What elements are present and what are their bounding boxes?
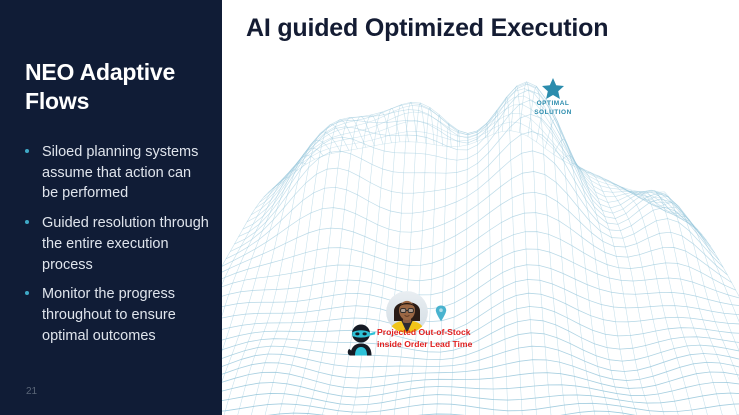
optimal-label-line1: OPTIMAL (518, 100, 588, 109)
sidebar-panel: NEO Adaptive Flows Siloed planning syste… (0, 0, 222, 415)
optimal-solution-marker: OPTIMAL SOLUTION (518, 78, 588, 118)
presentation-slide: NEO Adaptive Flows Siloed planning syste… (0, 0, 739, 415)
bullet-dot-icon (25, 220, 29, 224)
ninja-bot-icon (346, 322, 376, 356)
list-item: Siloed planning systems assume that acti… (18, 142, 210, 204)
list-item: Monitor the progress throughout to ensur… (18, 284, 210, 346)
slide-content-area: AI guided Optimized Execution OPTIMAL SO… (222, 0, 739, 415)
bullet-dot-icon (25, 291, 29, 295)
list-item-text: Monitor the progress throughout to ensur… (42, 286, 176, 343)
list-item: Guided resolution through the entire exe… (18, 213, 210, 275)
page-number: 21 (26, 386, 37, 397)
optimal-label-line2: SOLUTION (518, 109, 588, 118)
sidebar-bullet-list: Siloed planning systems assume that acti… (18, 142, 210, 356)
alert-line2: inside Order Lead Time (377, 338, 472, 350)
list-item-text: Siloed planning systems assume that acti… (42, 144, 198, 201)
page-title: AI guided Optimized Execution (246, 14, 608, 43)
list-item-text: Guided resolution through the entire exe… (42, 215, 209, 272)
optimal-solution-label: OPTIMAL SOLUTION (518, 100, 588, 118)
map-pin-icon (435, 305, 447, 322)
sidebar-heading: NEO Adaptive Flows (25, 58, 205, 117)
bullet-dot-icon (25, 149, 29, 153)
status-badge: Projected Out-of-Stock inside Order Lead… (377, 326, 472, 350)
alert-line1: Projected Out-of-Stock (377, 326, 472, 338)
star-icon (542, 78, 564, 99)
wireframe-terrain-mesh-icon (222, 40, 739, 415)
